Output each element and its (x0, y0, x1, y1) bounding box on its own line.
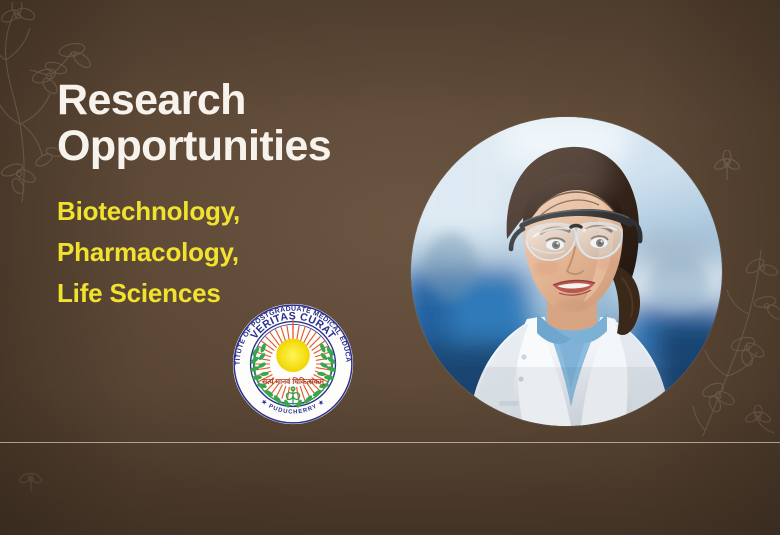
jipmer-logo-icon: JAWAHARLAL INSTITUTE OF POSTGRADUATE MED… (231, 302, 355, 426)
subject-item-biotechnology: Biotechnology, (57, 191, 417, 232)
headline-block: Research Opportunities Biotechnology, Ph… (57, 78, 417, 314)
svg-text:सत्यं मानवं चिकित्सकम्: सत्यं मानवं चिकित्सकम् (261, 377, 326, 387)
poster-canvas: Research Opportunities Biotechnology, Ph… (0, 0, 780, 535)
horizontal-divider (0, 442, 780, 443)
subject-list: Biotechnology, Pharmacology, Life Scienc… (57, 191, 417, 314)
scientist-portrait-image (411, 117, 722, 426)
page-title-line-2: Opportunities (57, 124, 417, 170)
subject-item-pharmacology: Pharmacology, (57, 232, 417, 273)
page-title-line-1: Research (57, 78, 417, 124)
